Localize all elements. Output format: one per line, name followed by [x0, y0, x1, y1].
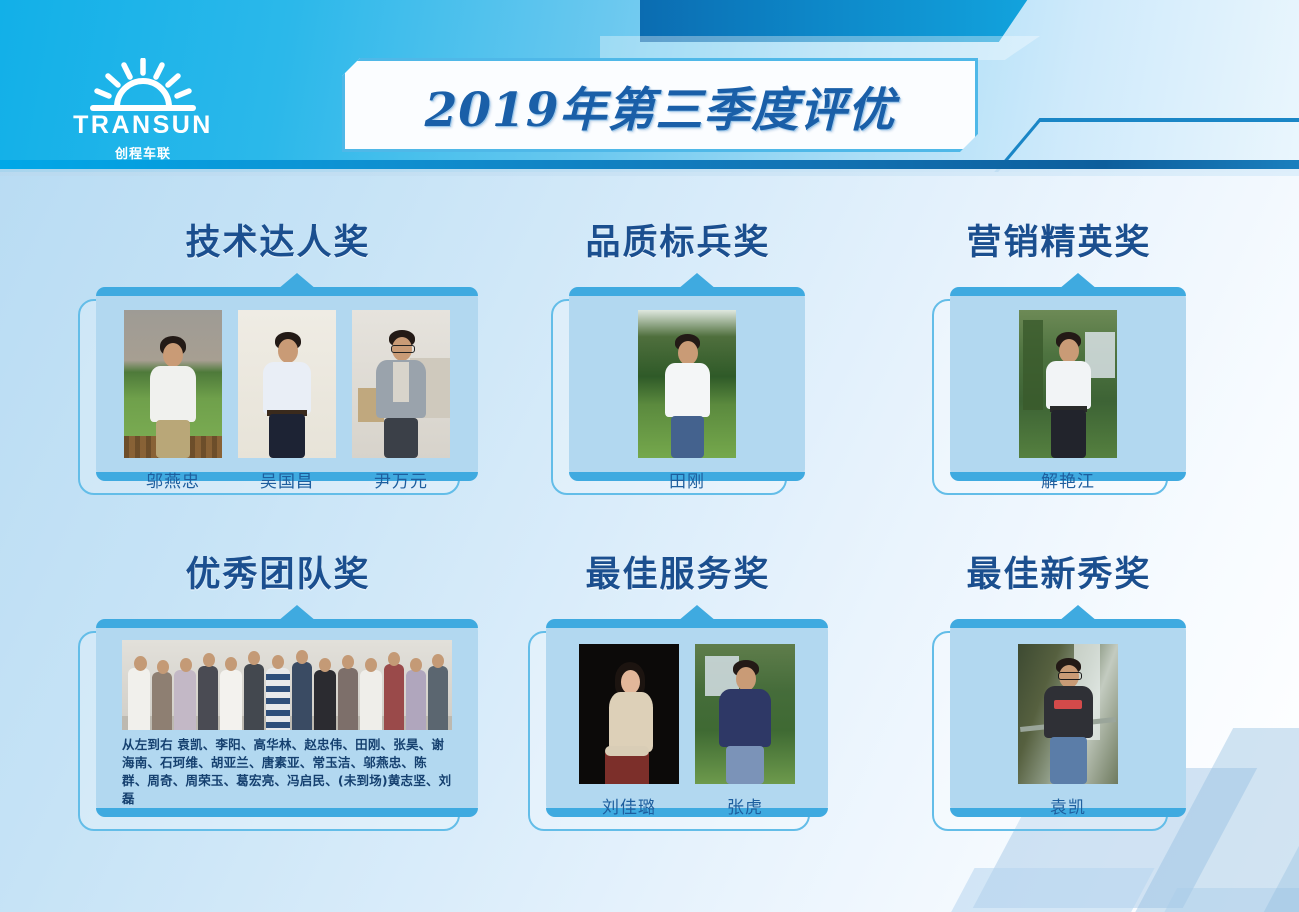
person-photo	[1019, 310, 1117, 458]
award-title: 优秀团队奖	[78, 546, 478, 597]
page-title: 2019年第三季度评优	[425, 71, 896, 140]
award-section-best-service: 最佳服务奖	[528, 546, 828, 831]
person-photo	[695, 644, 795, 784]
card-pointer-tab	[678, 273, 716, 289]
award-card: 袁凯	[932, 619, 1186, 831]
team-photo	[122, 640, 452, 730]
award-card: 邬燕忠 吴国昌	[78, 287, 478, 495]
person-name: 田刚	[669, 467, 705, 492]
award-section-quality-pacesetter: 品质标兵奖	[551, 214, 805, 495]
award-section-tech-expert: 技术达人奖	[78, 214, 478, 495]
person-photo	[124, 310, 222, 458]
poster-stage: TRANSUN 创程车联 2019年第三季度评优 技术达人奖	[0, 0, 1299, 912]
card-pointer-tab	[678, 605, 716, 621]
card-top-bar	[569, 287, 805, 296]
card-top-bar	[546, 619, 828, 628]
card-pointer-tab	[1059, 273, 1097, 289]
logo-text-en: TRANSUN	[68, 113, 218, 138]
award-person: 邬燕忠	[124, 310, 222, 492]
award-person: 田刚	[638, 310, 736, 492]
poster-header: TRANSUN 创程车联 2019年第三季度评优	[0, 0, 1299, 172]
person-name: 刘佳璐	[602, 793, 656, 818]
person-photo	[638, 310, 736, 458]
header-light-banner-shape	[600, 36, 1040, 60]
person-photo	[352, 310, 450, 458]
award-person: 解艳江	[1019, 310, 1117, 492]
team-member-caption: 从左到右 袁凯、李阳、高华林、赵忠伟、田刚、张昊、谢海南、石珂维、胡亚兰、唐素亚…	[122, 736, 452, 809]
company-logo: TRANSUN 创程车联	[68, 58, 218, 166]
award-title: 营销精英奖	[932, 214, 1186, 265]
person-name: 吴国昌	[260, 467, 314, 492]
award-title: 品质标兵奖	[551, 214, 805, 265]
header-divider-bar-secondary	[0, 169, 1299, 176]
person-photo	[238, 310, 336, 458]
person-name: 张虎	[727, 793, 763, 818]
award-card: 田刚	[551, 287, 805, 495]
award-card: 从左到右 袁凯、李阳、高华林、赵忠伟、田刚、张昊、谢海南、石珂维、胡亚兰、唐素亚…	[78, 619, 478, 831]
card-top-bar	[950, 287, 1186, 296]
award-person: 吴国昌	[238, 310, 336, 492]
person-photo	[1018, 644, 1118, 784]
person-name: 尹万元	[374, 467, 428, 492]
award-person: 尹万元	[352, 310, 450, 492]
award-grid: 技术达人奖	[0, 188, 1299, 912]
card-top-bar	[96, 287, 478, 296]
sunrise-icon	[84, 58, 202, 112]
award-title: 最佳服务奖	[528, 546, 828, 597]
card-top-bar	[96, 619, 478, 628]
poster-title-plaque: 2019年第三季度评优	[342, 58, 978, 152]
award-person: 刘佳璐	[579, 644, 679, 818]
award-section-marketing-elite: 营销精英奖	[932, 214, 1186, 495]
award-person: 张虎	[695, 644, 795, 818]
award-card: 刘佳璐 张虎	[528, 619, 828, 831]
award-person: 袁凯	[1018, 644, 1118, 818]
award-section-best-newcomer: 最佳新秀奖	[932, 546, 1186, 831]
award-section-excellent-team: 优秀团队奖	[78, 546, 478, 831]
header-dark-banner-shape	[640, 0, 1030, 42]
person-photo	[579, 644, 679, 784]
card-pointer-tab	[1059, 605, 1097, 621]
card-pointer-tab	[278, 605, 316, 621]
person-name: 邬燕忠	[146, 467, 200, 492]
person-name: 解艳江	[1041, 467, 1095, 492]
award-card: 解艳江	[932, 287, 1186, 495]
award-title: 技术达人奖	[78, 214, 478, 265]
person-name: 袁凯	[1050, 793, 1086, 818]
header-divider-bar	[0, 160, 1299, 169]
card-bottom-bar	[96, 808, 478, 817]
award-title: 最佳新秀奖	[932, 546, 1186, 597]
card-pointer-tab	[278, 273, 316, 289]
card-top-bar	[950, 619, 1186, 628]
